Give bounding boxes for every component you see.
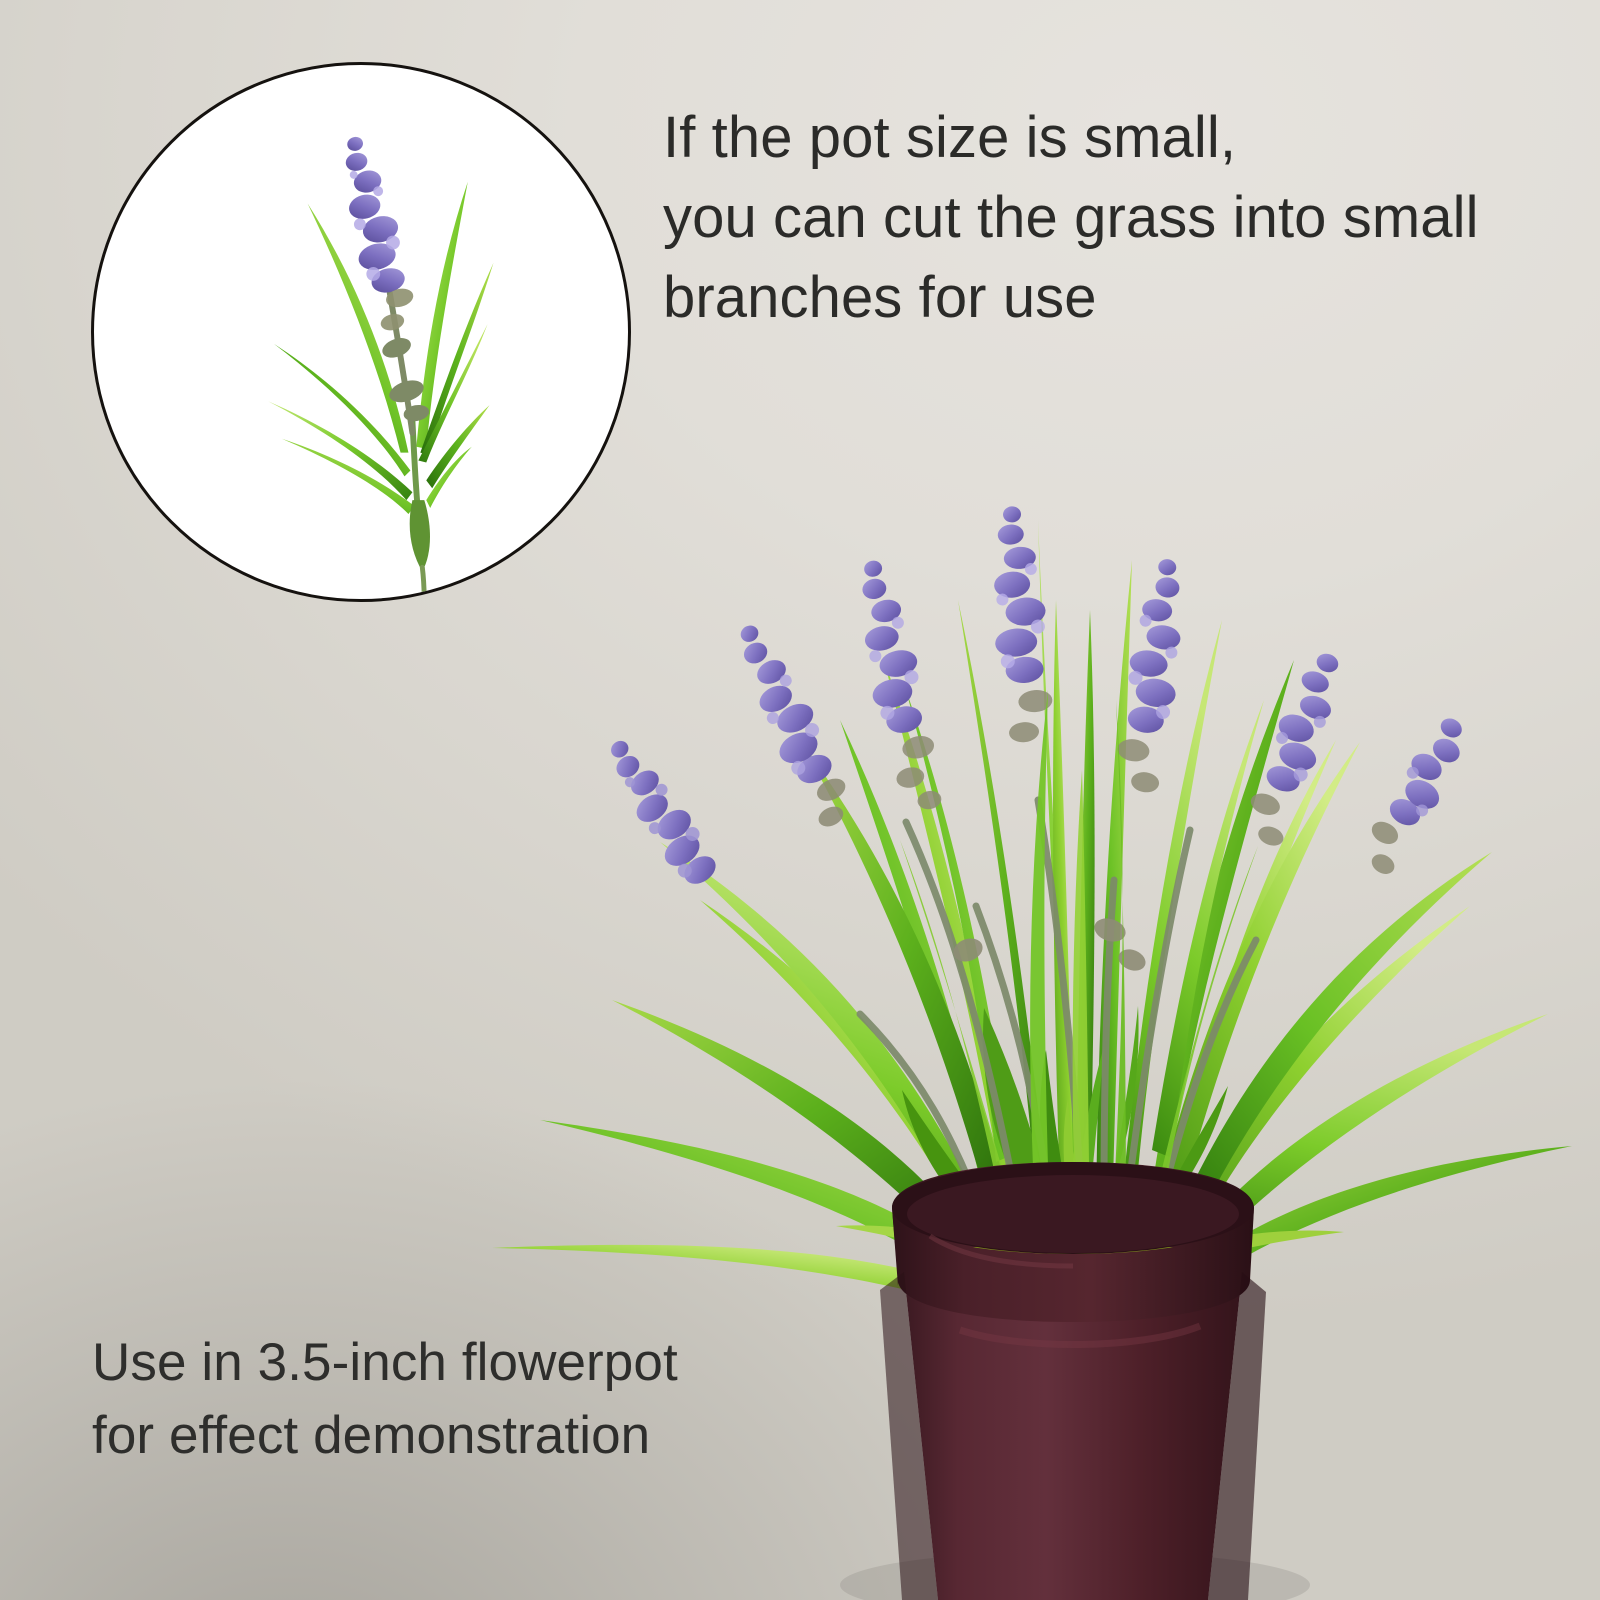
product-image-canvas: If the pot size is small, you can cut th… [0, 0, 1600, 1600]
inset-circle-single-branch [91, 62, 631, 602]
headline-text: If the pot size is small, you can cut th… [663, 98, 1543, 338]
flower-pot [880, 1162, 1266, 1600]
single-branch-illustration [94, 65, 628, 599]
caption-text: Use in 3.5-inch flowerpot for effect dem… [92, 1326, 872, 1472]
